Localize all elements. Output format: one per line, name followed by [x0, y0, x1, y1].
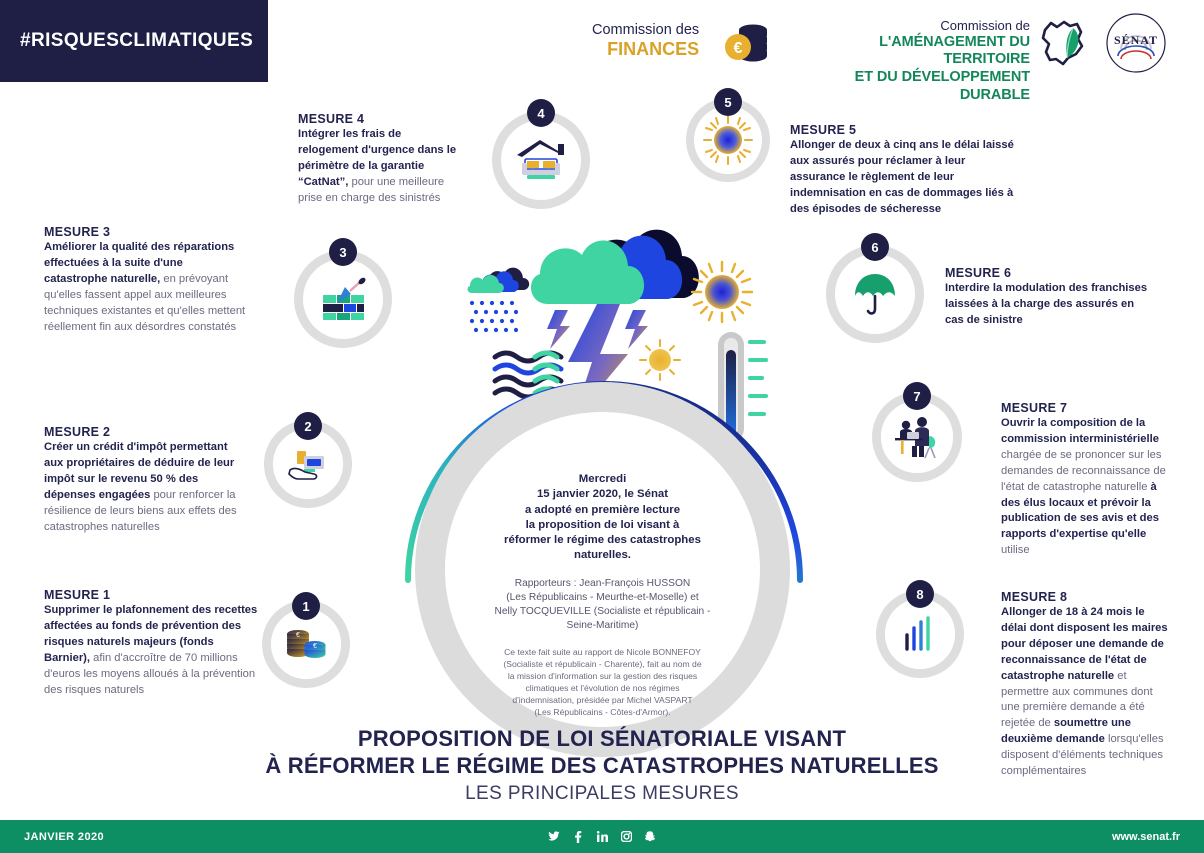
hashtag-text: #RISQUESCLIMATIQUES [20, 30, 253, 52]
measure-7-body: Ouvrir la composition de la commission i… [1001, 416, 1166, 559]
measure-5-body: Allonger de deux à cinq ans le délai lai… [790, 138, 1018, 218]
measure-4-text: MESURE 4 Intégrer les frais de relogemen… [298, 112, 461, 207]
measure-8-node[interactable]: 8 [876, 590, 964, 678]
measure-6-title: MESURE 6 [945, 266, 1155, 280]
twitter-icon[interactable] [548, 830, 561, 843]
measure-5-node[interactable]: 5 [686, 98, 770, 182]
measure-4-badge: 4 [527, 99, 555, 127]
storm-cloud [531, 230, 699, 304]
bricks-trowel-icon [304, 260, 382, 338]
measure-7-title: MESURE 7 [1001, 401, 1166, 415]
measure-8-title: MESURE 8 [1001, 590, 1169, 604]
commission-amenagement-line2b: ET DU DÉVELOPPEMENT DURABLE [790, 69, 1030, 104]
commission-amenagement-logo: Commission de L'AMÉNAGEMENT DU TERRITOIR… [790, 18, 1030, 104]
measure-6-bold: Interdire la modulation des franchises l… [945, 282, 1147, 326]
commission-amenagement-line1: Commission de [790, 18, 1030, 34]
bottom-title-line3: LES PRINCIPALES MESURES [0, 782, 1204, 807]
snapchat-icon[interactable] [644, 830, 657, 843]
measure-4-node[interactable]: 4 [492, 111, 590, 209]
senat-logo: SÉNAT [1104, 12, 1168, 79]
facebook-icon[interactable] [572, 830, 585, 843]
measure-1-body: Supprimer le plafonnement des recettes a… [44, 603, 259, 698]
measure-6-text: MESURE 6 Interdire la modulation des fra… [945, 266, 1155, 329]
measure-4-title: MESURE 4 [298, 112, 461, 126]
measure-3-title: MESURE 3 [44, 225, 249, 239]
measure-5-bold: Allonger de deux à cinq ans le délai lai… [790, 139, 1014, 215]
small-cloud [468, 268, 530, 293]
measure-8-badge: 8 [906, 580, 934, 608]
euro-coins-icon: € [723, 22, 773, 69]
measure-3-badge: 3 [329, 238, 357, 266]
bottom-title: PROPOSITION DE LOI SÉNATORIALE VISANT À … [0, 726, 1204, 806]
measure-5-badge: 5 [714, 88, 742, 116]
measure-7-rest: chargée de se prononcer sur les demandes… [1001, 449, 1166, 493]
measure-1-title: MESURE 1 [44, 588, 259, 602]
center-disc-wrapper: Mercredi 15 janvier 2020, le Sénat a ado… [388, 345, 818, 730]
measure-6-badge: 6 [861, 233, 889, 261]
measure-7-text: MESURE 7 Ouvrir la composition de la com… [1001, 401, 1166, 559]
chart-bars-icon [885, 599, 955, 669]
measure-8-bold: Allonger de 18 à 24 mois le délai dont d… [1001, 606, 1168, 682]
bottom-title-line2: À RÉFORMER LE RÉGIME DES CATASTROPHES NA… [0, 753, 1204, 780]
measure-3-text: MESURE 3 Améliorer la qualité des répara… [44, 225, 249, 335]
footer-url: www.senat.fr [1112, 831, 1180, 843]
measure-2-node[interactable]: 2 [264, 420, 352, 508]
measure-2-badge: 2 [294, 412, 322, 440]
measure-1-badge: 1 [292, 592, 320, 620]
commission-finances-logo: Commission des FINANCES [592, 22, 699, 59]
center-headline: Mercredi 15 janvier 2020, le Sénat a ado… [504, 472, 701, 564]
measure-3-node[interactable]: 3 [294, 250, 392, 348]
measure-4-body: Intégrer les frais de relogement d'urgen… [298, 127, 461, 207]
measure-7-bold: Ouvrir la composition de la commission i… [1001, 417, 1159, 445]
svg-text:SÉNAT: SÉNAT [1114, 33, 1158, 47]
measure-2-body: Créer un crédit d'impôt permettant aux p… [44, 440, 249, 535]
commission-finances-line1: Commission des [592, 22, 699, 39]
commission-finances-line2: FINANCES [592, 39, 699, 60]
france-leaf-icon [1037, 18, 1089, 71]
measure-3-body: Améliorer la qualité des réparations eff… [44, 240, 249, 335]
center-note: Ce texte fait suite au rapport de Nicole… [503, 646, 701, 718]
sun-icon [694, 106, 762, 174]
footer-social-links [0, 830, 1204, 843]
center-rapporteurs: Rapporteurs : Jean-François HUSSON (Les … [495, 577, 711, 633]
measure-7-node[interactable]: 7 [872, 392, 962, 482]
measure-2-title: MESURE 2 [44, 425, 249, 439]
center-text-block: Mercredi 15 janvier 2020, le Sénat a ado… [450, 417, 755, 722]
meeting-table-icon [881, 401, 953, 473]
measure-7-rest2: utilise [1001, 544, 1030, 556]
large-sun [692, 262, 752, 322]
svg-text:€: € [313, 643, 317, 650]
measure-6-node[interactable]: 6 [826, 245, 924, 343]
rain-drops [470, 301, 518, 332]
infographic-page: #RISQUESCLIMATIQUES Commission des FINAN… [0, 0, 1204, 853]
svg-text:€: € [296, 632, 300, 639]
measure-6-body: Interdire la modulation des franchises l… [945, 281, 1155, 329]
measure-1-node[interactable]: 1 [262, 600, 350, 688]
measure-7-badge: 7 [903, 382, 931, 410]
header: #RISQUESCLIMATIQUES Commission des FINAN… [0, 0, 1204, 82]
measure-1-text: MESURE 1 Supprimer le plafonnement des r… [44, 588, 259, 698]
linkedin-icon[interactable] [596, 830, 609, 843]
bottom-title-line1: PROPOSITION DE LOI SÉNATORIALE VISANT [0, 726, 1204, 753]
instagram-icon[interactable] [620, 830, 633, 843]
measure-5-text: MESURE 5 Allonger de deux à cinq ans le … [790, 123, 1018, 218]
measure-2-text: MESURE 2 Créer un crédit d'impôt permett… [44, 425, 249, 535]
footer: JANVIER 2020 www.senat.fr [0, 820, 1204, 853]
hashtag-block: #RISQUESCLIMATIQUES [0, 0, 268, 82]
measure-5-title: MESURE 5 [790, 123, 1018, 137]
commission-amenagement-line2a: L'AMÉNAGEMENT DU TERRITOIRE [790, 34, 1030, 69]
umbrella-icon [836, 255, 914, 333]
svg-text:€: € [734, 40, 743, 57]
house-bed-icon [502, 121, 580, 199]
